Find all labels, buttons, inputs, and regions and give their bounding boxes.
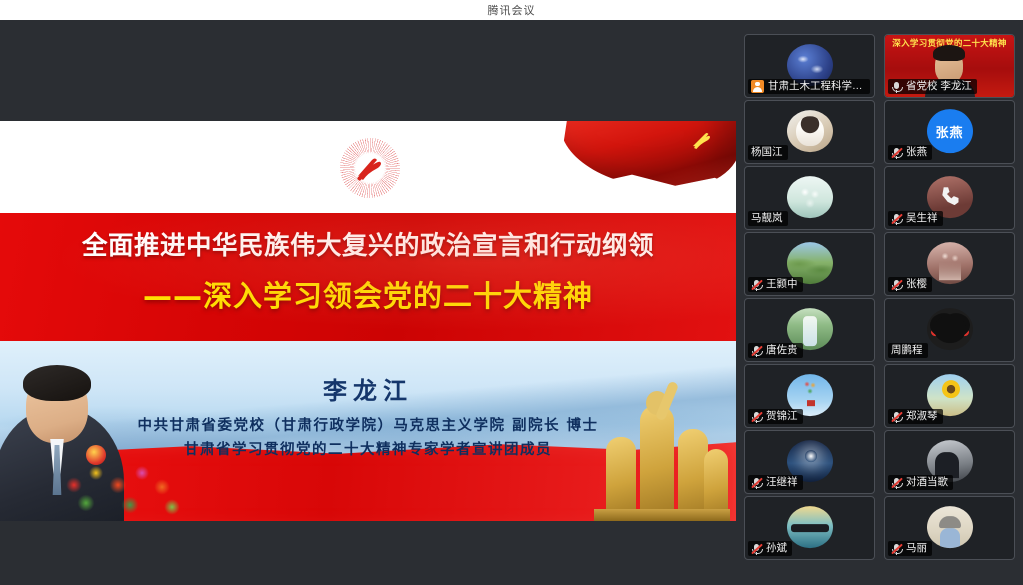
participant-name: 唐佐贵 [766, 343, 798, 358]
participant-name: 孙斌 [766, 541, 787, 556]
participant-name: 郑淑琴 [906, 409, 938, 424]
participant-tile[interactable]: 马丽 [884, 496, 1015, 560]
mic-muted-icon [891, 147, 902, 159]
participant-tile[interactable]: 杨国江 [744, 100, 875, 164]
participant-name-badge: 杨国江 [748, 145, 788, 160]
participant-name: 马靓岚 [751, 211, 783, 226]
mic-muted-icon [751, 411, 762, 423]
participant-name: 省党校 李龙江 [906, 79, 972, 94]
participant-tile[interactable]: 张樱 [884, 232, 1015, 296]
participant-name: 汪继祥 [766, 475, 798, 490]
participant-name: 张樱 [906, 277, 927, 292]
participant-name-badge: 张燕 [888, 145, 932, 160]
participant-name: 张燕 [906, 145, 927, 160]
participant-tile[interactable]: 唐佐贵 [744, 298, 875, 362]
participant-name: 对酒当歌 [906, 475, 948, 490]
participant-name-badge: 汪继祥 [748, 475, 803, 490]
mic-on-icon [891, 81, 902, 93]
mic-muted-icon [751, 477, 762, 489]
participant-name-badge: 马丽 [888, 541, 932, 556]
mic-muted-icon [891, 279, 902, 291]
red-flag-icon [560, 121, 736, 195]
participant-name-badge: 马靓岚 [748, 211, 788, 226]
participant-tile[interactable]: 甘肃土木工程科学研究院… [744, 34, 875, 98]
presenter-name: 李龙江 [0, 371, 736, 406]
window-title: 腾讯会议 [488, 2, 536, 18]
presenter-title-line-2: 甘肃省学习贯彻党的二十大精神专家学者宣讲团成员 [0, 438, 736, 459]
participant-name-badge: 郑淑琴 [888, 409, 943, 424]
participant-tile[interactable]: 周鹏程 [884, 298, 1015, 362]
shared-screen-stage[interactable]: 全面推进中华民族伟大复兴的政治宣言和行动纲领 ——深入学习领会党的二十大精神 [0, 20, 736, 565]
avatar-initials: 张燕 [935, 122, 963, 141]
participant-name: 吴生祥 [906, 211, 938, 226]
participant-name-badge: 省党校 李龙江 [888, 79, 977, 94]
mic-muted-icon [751, 345, 762, 357]
mic-muted-icon [891, 477, 902, 489]
slide-title-main: 全面推进中华民族伟大复兴的政治宣言和行动纲领 [0, 225, 736, 262]
meeting-body: 全面推进中华民族伟大复兴的政治宣言和行动纲领 ——深入学习领会党的二十大精神 [0, 20, 1023, 585]
participant-tile[interactable]: 对酒当歌 [884, 430, 1015, 494]
avatar: 张燕 [927, 109, 973, 153]
video-subject-part [933, 45, 965, 61]
avatar [787, 176, 833, 218]
participant-name-badge: 孙斌 [748, 541, 792, 556]
participant-name-badge: 对酒当歌 [888, 475, 953, 490]
avatar [927, 308, 973, 350]
participant-tile[interactable]: 贺锦江 [744, 364, 875, 428]
participant-tile[interactable]: 郑淑琴 [884, 364, 1015, 428]
participant-name: 杨国江 [751, 145, 783, 160]
mic-muted-icon [751, 279, 762, 291]
presenter-title-line-1: 中共甘肃省委党校（甘肃行政学院）马克思主义学院 副院长 博士 [0, 414, 736, 435]
slide-title-band: 全面推进中华民族伟大复兴的政治宣言和行动纲领 ——深入学习领会党的二十大精神 [0, 213, 736, 341]
tencent-meeting-window: 腾讯会议 [0, 0, 1023, 585]
participant-name-badge: 张樱 [888, 277, 932, 292]
participant-name: 马丽 [906, 541, 927, 556]
avatar [787, 506, 833, 548]
avatar [927, 506, 973, 548]
participant-tile[interactable]: 孙斌 [744, 496, 875, 560]
slide-title-sub: ——深入学习领会党的二十大精神 [0, 273, 736, 315]
presentation-slide: 全面推进中华民族伟大复兴的政治宣言和行动纲领 ——深入学习领会党的二十大精神 [0, 121, 736, 521]
participant-tile[interactable]: 深入学习贯彻党的二十大精神省党校 李龙江 [884, 34, 1015, 98]
participant-tile[interactable]: 汪继祥 [744, 430, 875, 494]
participant-name: 甘肃土木工程科学研究院… [768, 79, 865, 94]
mic-muted-icon [891, 411, 902, 423]
slide-header-band [0, 121, 736, 213]
participant-name-badge: 周鹏程 [888, 343, 928, 358]
mic-muted-icon [891, 543, 902, 555]
participant-name: 贺锦江 [766, 409, 798, 424]
participant-name-badge: 唐佐贵 [748, 343, 803, 358]
avatar [787, 110, 833, 152]
host-icon [751, 80, 764, 93]
mic-muted-icon [891, 213, 902, 225]
party-emblem-icon [340, 138, 400, 198]
participant-name-badge: 王颢中 [748, 277, 803, 292]
participant-name: 周鹏程 [891, 343, 923, 358]
participant-name-badge: 贺锦江 [748, 409, 803, 424]
video-subject-part [974, 69, 1008, 93]
avatar [927, 242, 973, 284]
participant-tile[interactable]: 吴生祥 [884, 166, 1015, 230]
participant-name-badge: 吴生祥 [888, 211, 943, 226]
flower-arrangement-image [56, 451, 196, 521]
participant-tile[interactable]: 张燕张燕 [884, 100, 1015, 164]
participant-name: 王颢中 [766, 277, 798, 292]
participant-tile[interactable]: 马靓岚 [744, 166, 875, 230]
mic-muted-icon [751, 543, 762, 555]
window-titlebar: 腾讯会议 [0, 0, 1023, 20]
participant-tile[interactable]: 王颢中 [744, 232, 875, 296]
participants-grid: 甘肃土木工程科学研究院…深入学习贯彻党的二十大精神省党校 李龙江杨国江张燕张燕马… [736, 20, 1023, 565]
slide-presenter-band: 李龙江 中共甘肃省委党校（甘肃行政学院）马克思主义学院 副院长 博士 甘肃省学习… [0, 341, 736, 521]
participant-name-badge: 甘肃土木工程科学研究院… [748, 79, 870, 94]
